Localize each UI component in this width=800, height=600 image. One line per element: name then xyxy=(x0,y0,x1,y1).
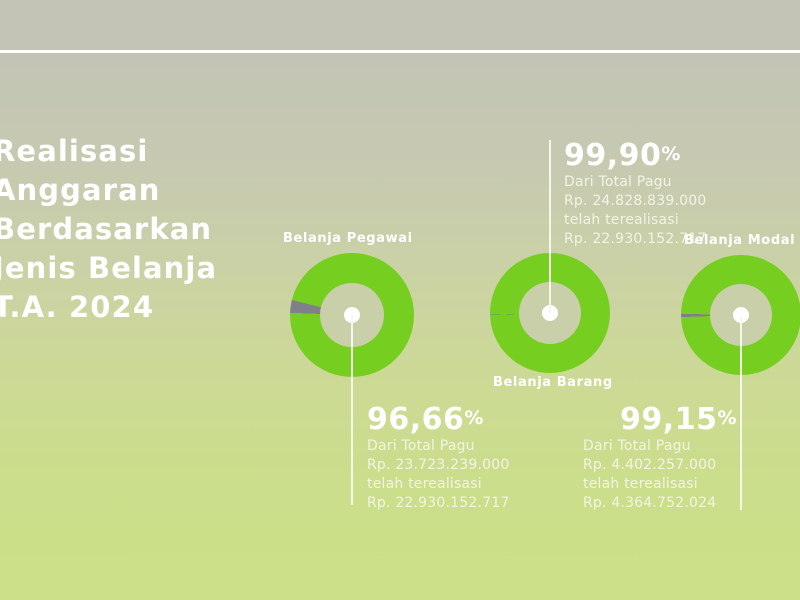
connector-line-belanja-pegawai xyxy=(351,315,353,505)
title-line-2: Anggaran xyxy=(0,171,313,210)
stat-caption-1-belanja-modal: Dari Total Pagu xyxy=(583,437,737,456)
percent-symbol-belanja-modal: % xyxy=(717,407,737,429)
title-line-5: T.A. 2024 xyxy=(0,288,313,327)
stat-caption-4-belanja-pegawai: Rp. 22.930.152.717 xyxy=(367,494,509,513)
stat-caption-2-belanja-pegawai: Rp. 23.723.239.000 xyxy=(367,456,509,475)
percent-symbol-belanja-pegawai: % xyxy=(464,407,484,429)
stat-caption-3-belanja-modal: telah terealisasi xyxy=(583,475,737,494)
stat-caption-1-belanja-pegawai: Dari Total Pagu xyxy=(367,437,509,456)
stat-percent-belanja-barang: 99,90% xyxy=(564,137,706,173)
page-title: Realisasi Anggaran Berdasarkan Jenis Bel… xyxy=(0,132,313,327)
stat-block-belanja-modal: 99,15% Dari Total Pagu Rp. 4.402.257.000… xyxy=(583,401,737,513)
title-line-1: Realisasi xyxy=(0,132,313,171)
title-line-3: Berdasarkan xyxy=(0,210,313,249)
stat-caption-3-belanja-barang: telah terealisasi xyxy=(564,211,706,230)
stat-caption-1-belanja-barang: Dari Total Pagu xyxy=(564,173,706,192)
stat-percent-value-belanja-barang: 99,90 xyxy=(564,138,661,173)
stat-percent-belanja-pegawai: 96,66% xyxy=(367,401,509,437)
stat-caption-3-belanja-pegawai: telah terealisasi xyxy=(367,475,509,494)
stat-caption-2-belanja-barang: Rp. 24.828.839.000 xyxy=(564,192,706,211)
donut-label-belanja-modal: Belanja Modal xyxy=(684,233,795,248)
stat-percent-value-belanja-pegawai: 96,66 xyxy=(367,402,464,437)
infographic-poster: Realisasi Anggaran Berdasarkan Jenis Bel… xyxy=(0,0,800,600)
stat-caption-4-belanja-modal: Rp. 4.364.752.024 xyxy=(583,494,737,513)
connector-line-belanja-barang xyxy=(549,140,551,313)
stat-block-belanja-pegawai: 96,66% Dari Total Pagu Rp. 23.723.239.00… xyxy=(367,401,509,513)
header-divider xyxy=(0,50,800,53)
stat-percent-belanja-modal: 99,15% xyxy=(583,401,737,437)
stat-caption-2-belanja-modal: Rp. 4.402.257.000 xyxy=(583,456,737,475)
donut-label-belanja-barang: Belanja Barang xyxy=(493,375,613,390)
stat-percent-value-belanja-modal: 99,15 xyxy=(620,402,717,437)
donut-label-belanja-pegawai: Belanja Pegawai xyxy=(283,231,413,246)
percent-symbol-belanja-barang: % xyxy=(661,143,681,165)
title-line-4: Jenis Belanja xyxy=(0,249,313,288)
connector-line-belanja-modal xyxy=(740,317,742,510)
